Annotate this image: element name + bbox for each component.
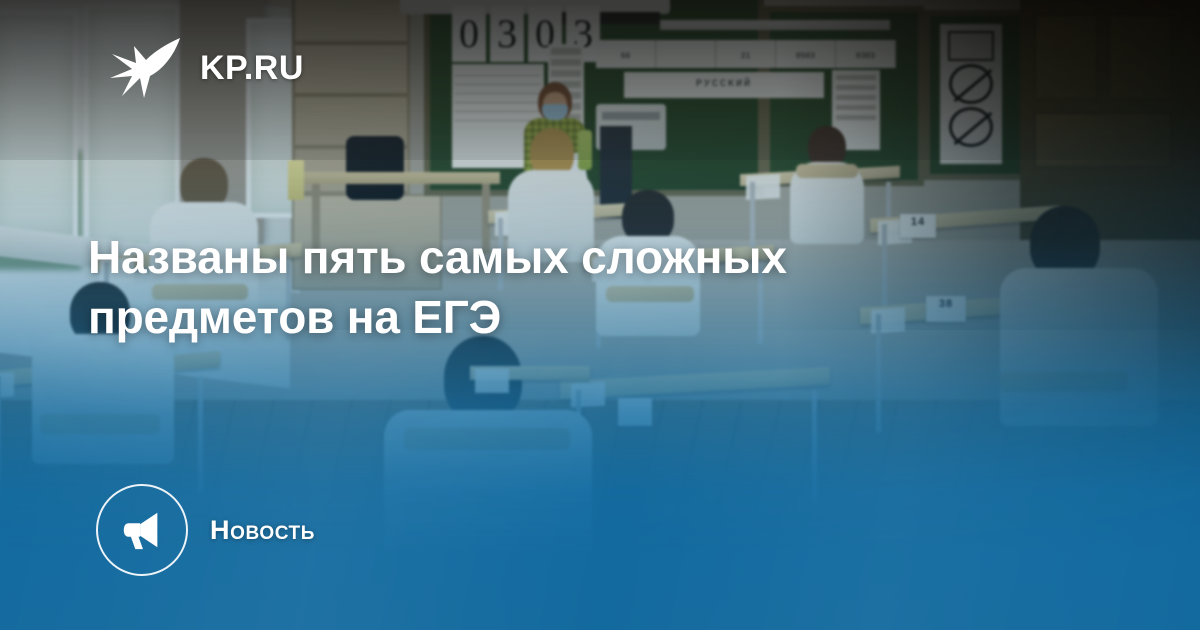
brand-name: KP.RU xyxy=(200,49,304,88)
news-share-card: 0 3 0 3 66 21 0503 0303 РУССКИЙ xyxy=(0,0,1200,630)
status-badge[interactable]: Новость xyxy=(96,484,315,576)
page-title: Названы пять самых сложных предметов на … xyxy=(88,228,988,348)
brand-logo[interactable]: KP.RU xyxy=(108,36,304,100)
badge-circle xyxy=(96,484,188,576)
badge-label: Новость xyxy=(210,515,315,546)
megaphone-icon xyxy=(119,507,165,553)
swallow-bird-icon xyxy=(108,36,184,100)
